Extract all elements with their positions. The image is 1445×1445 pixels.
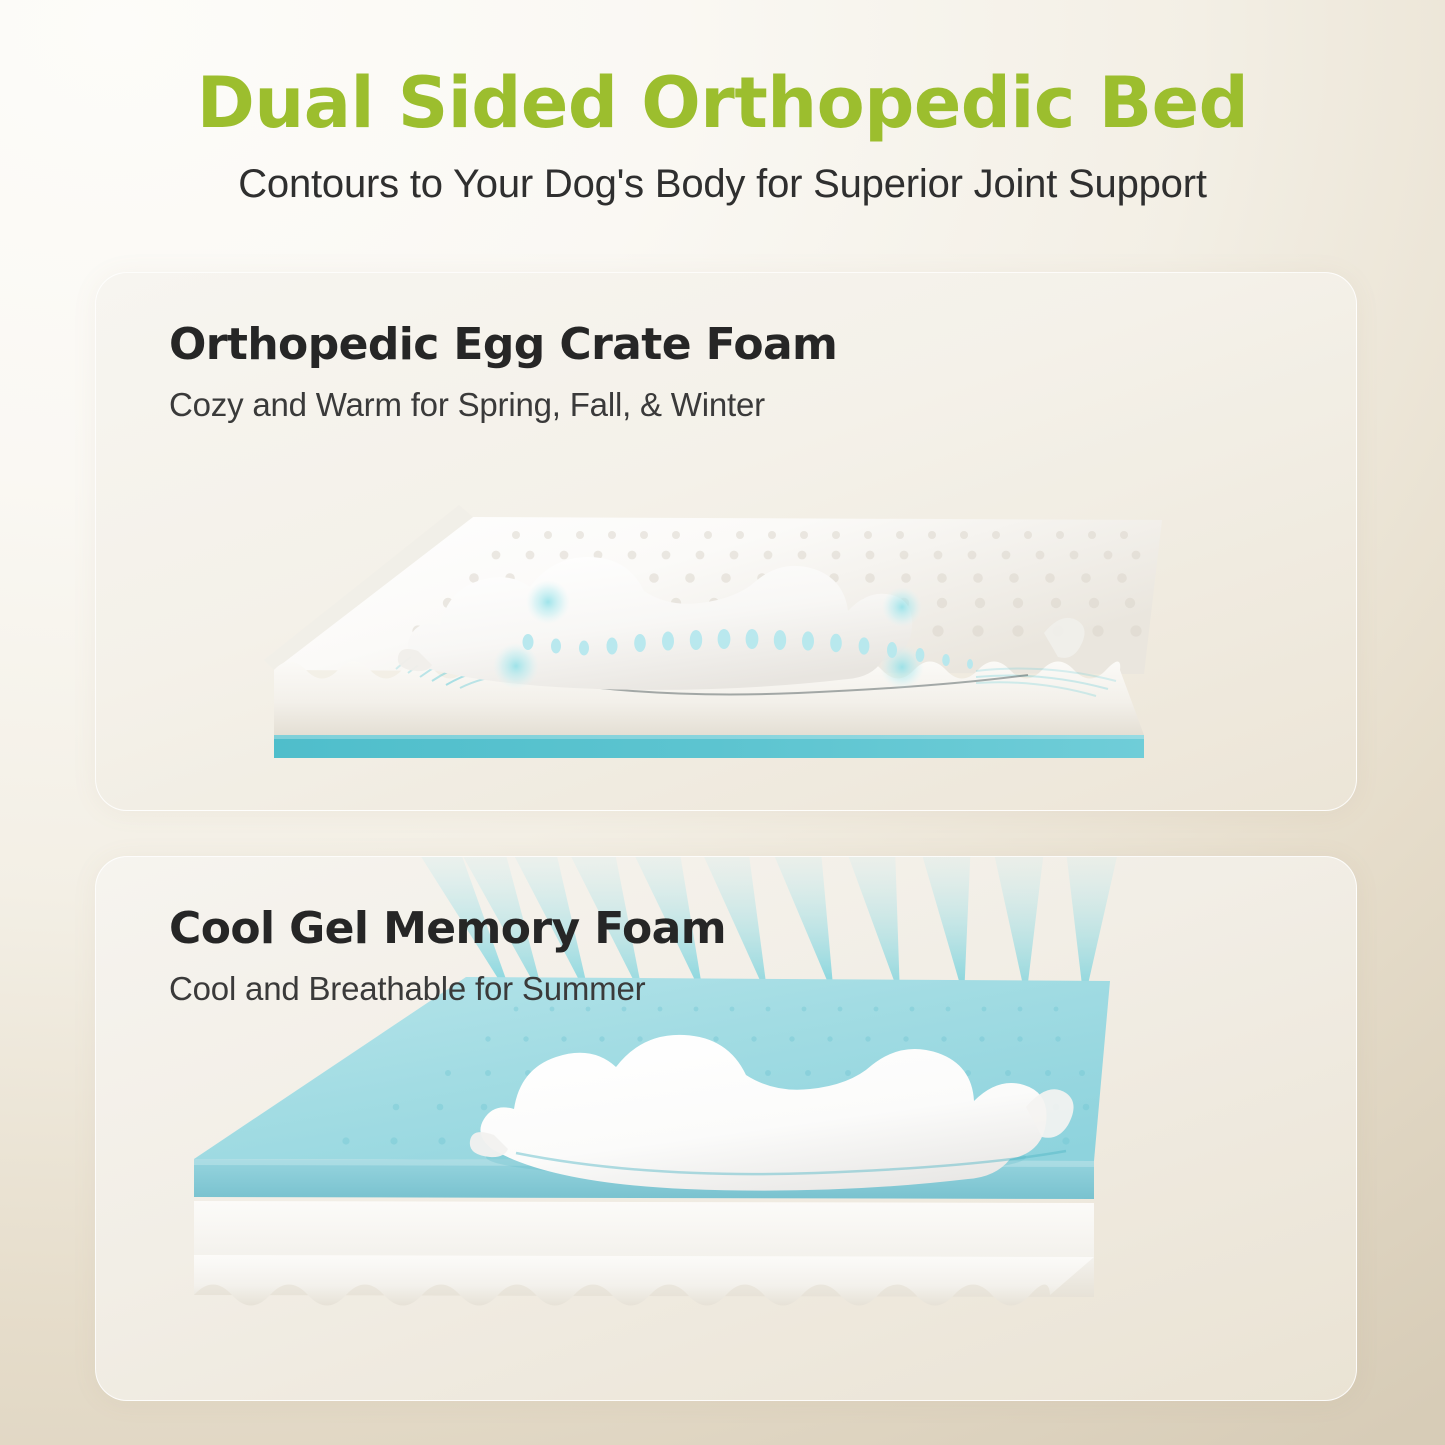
page-subtitle: Contours to Your Dog's Body for Superior… xyxy=(0,140,1445,207)
card-heading-group-1: Orthopedic Egg Crate Foam Cozy and Warm … xyxy=(169,319,837,424)
card-title: Cool Gel Memory Foam xyxy=(169,903,726,954)
feature-card-egg-crate-foam: Orthopedic Egg Crate Foam Cozy and Warm … xyxy=(95,272,1357,811)
card-title: Orthopedic Egg Crate Foam xyxy=(169,319,837,370)
page-title: Dual Sided Orthopedic Bed xyxy=(0,0,1445,140)
feature-card-cool-gel-memory-foam: Cool Gel Memory Foam Cool and Breathable… xyxy=(95,856,1357,1401)
infographic-canvas: Dual Sided Orthopedic Bed Contours to Yo… xyxy=(0,0,1445,1445)
header: Dual Sided Orthopedic Bed Contours to Yo… xyxy=(0,0,1445,207)
card-subtitle: Cozy and Warm for Spring, Fall, & Winter xyxy=(169,370,837,424)
card-subtitle: Cool and Breathable for Summer xyxy=(169,954,726,1008)
card-heading-group-2: Cool Gel Memory Foam Cool and Breathable… xyxy=(169,903,726,1008)
